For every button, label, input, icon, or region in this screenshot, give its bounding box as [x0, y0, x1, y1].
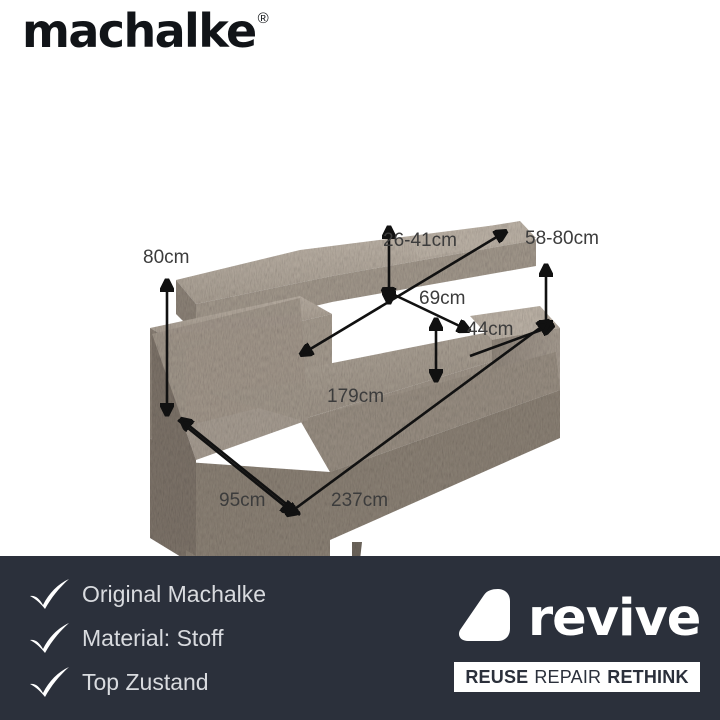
- list-item: Original Machalke: [28, 574, 266, 614]
- label-seat-height: 44cm: [467, 319, 513, 341]
- list-item: Top Zustand: [28, 662, 266, 702]
- revive-logo: revive REUSE REPAIR RETHINK: [454, 582, 700, 692]
- product-image-card: machalke ®: [0, 0, 720, 720]
- list-item-label: Original Machalke: [82, 583, 266, 606]
- revive-logo-top: revive: [454, 582, 700, 654]
- label-armrest-height: 58-80cm: [525, 228, 599, 250]
- check-icon: [28, 621, 72, 655]
- leaf-icon: [454, 585, 520, 651]
- sofa-diagram: [0, 90, 720, 556]
- label-seat-width: 179cm: [327, 386, 384, 408]
- feature-list: Original Machalke Material: Stoff Top Zu…: [28, 574, 266, 702]
- label-width-total: 237cm: [331, 490, 388, 512]
- tagline-word-reuse: REUSE: [465, 667, 528, 688]
- list-item-label: Material: Stoff: [82, 627, 223, 650]
- registered-trademark-icon: ®: [258, 11, 269, 26]
- revive-wordmark: revive: [528, 593, 700, 644]
- tagline-word-rethink: RETHINK: [607, 667, 688, 688]
- list-item-label: Top Zustand: [82, 671, 209, 694]
- brand-logo: machalke ®: [22, 8, 269, 54]
- brand-name: machalke: [22, 8, 256, 54]
- check-icon: [28, 665, 72, 699]
- label-seat-depth: 69cm: [419, 288, 465, 310]
- tagline-word-repair: REPAIR: [534, 667, 601, 688]
- label-height-total: 80cm: [143, 247, 189, 269]
- product-illustration: 80cm 26-41cm 58-80cm 69cm 44cm 179cm 95c…: [0, 90, 720, 556]
- list-item: Material: Stoff: [28, 618, 266, 658]
- info-banner: Original Machalke Material: Stoff Top Zu…: [0, 556, 720, 720]
- label-depth-total: 95cm: [219, 490, 265, 512]
- check-icon: [28, 577, 72, 611]
- label-backrest-height: 26-41cm: [383, 230, 457, 252]
- revive-tagline: REUSE REPAIR RETHINK: [454, 662, 700, 692]
